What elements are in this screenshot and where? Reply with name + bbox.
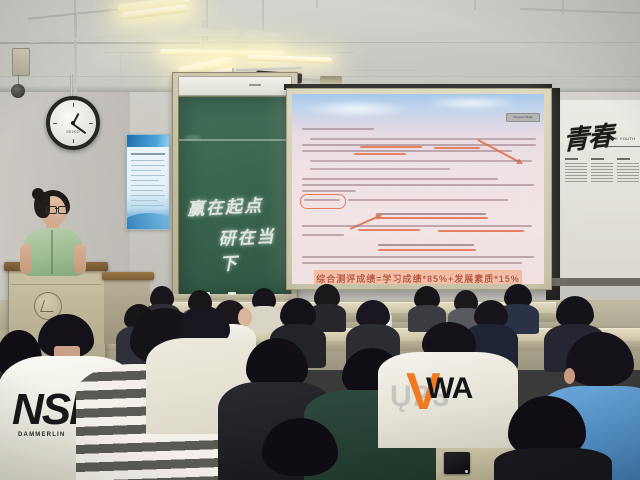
slide-highlight-banner: 综合测评成绩=学习成绩*85%+发展素质*15% [314, 270, 522, 284]
poster-subtitle: GIVE YOUTH [607, 136, 636, 141]
poster-line [131, 165, 165, 166]
poster-calligraphy: 青春 [563, 115, 613, 157]
slide-annotation-underline [376, 217, 488, 219]
ear [564, 368, 575, 384]
hair-bun [32, 188, 44, 200]
slide-text-line [302, 184, 534, 186]
ceiling-rod [474, 0, 476, 10]
hair [262, 418, 338, 476]
slide: Preview Mode 综合测评成绩=学习成绩*85%+发展素质*15% [292, 94, 544, 284]
chalk-dust [185, 135, 201, 140]
arm-left [20, 244, 32, 274]
slide-text-line [348, 199, 508, 201]
ceiling-wire [348, 70, 418, 71]
wall-poster-right: 青春 GIVE YOUTH [558, 100, 640, 278]
wall-poster-left [126, 134, 170, 230]
ceiling-rod [262, 0, 264, 30]
person-lecturer [18, 190, 92, 272]
clock-tick [73, 139, 74, 143]
classroom-photo: SEIKO 青春 GIVE YOUTH [0, 0, 640, 480]
whiteboard-strip [178, 76, 292, 96]
clock-brand-label: SEIKO [66, 129, 80, 134]
slide-annotation-underline [438, 230, 524, 232]
wall-speaker [12, 48, 30, 76]
slide-annotation-underline [378, 249, 476, 251]
person-student [412, 286, 442, 328]
slide-annotation-arrow [350, 214, 382, 229]
lamp-mount [192, 30, 238, 36]
poster-line [131, 200, 157, 201]
poster-text-column [565, 158, 587, 184]
ceiling-seam [196, 42, 640, 43]
slide-text-line [302, 262, 522, 264]
poster-text-column [591, 158, 613, 184]
slide-text-line [310, 168, 450, 170]
slide-annotation-box [300, 194, 346, 209]
poster-line [131, 160, 164, 161]
person-student [254, 418, 358, 480]
slide-text-line [302, 190, 356, 192]
poster-text-column [617, 158, 639, 184]
ceiling-rod [206, 0, 208, 44]
slide-text-line [310, 160, 532, 162]
ceiling-rod [316, 0, 318, 8]
slide-text-line [302, 256, 534, 258]
poster-line [131, 195, 165, 196]
slide-text-line [302, 128, 374, 130]
slide-cloud [422, 96, 522, 110]
chalk-text-line1: 赢在起点 [186, 191, 263, 220]
poster-header [127, 135, 169, 147]
clock-tick [73, 103, 74, 107]
clock-tick [89, 123, 93, 124]
slide-cloud [302, 100, 412, 118]
poster-title-line [131, 153, 165, 155]
poster-line [131, 190, 163, 191]
smartphone-on-desk[interactable] [444, 452, 470, 474]
slide-text-line [304, 199, 340, 201]
wall-clock: SEIKO [46, 96, 100, 150]
glasses-right-lens [58, 206, 68, 214]
poster-line [131, 170, 161, 171]
ceiling-wire [122, 72, 123, 94]
ceiling-rod [562, 0, 564, 14]
student-top-dark [494, 448, 612, 480]
phone-button-icon [465, 470, 468, 473]
slide-annotation-underline [354, 153, 406, 155]
poster-line [131, 175, 165, 176]
jacket-graphic-text: WA [426, 374, 472, 404]
person-student-wa: Ų23 V WA [382, 330, 514, 450]
slide-text-line [310, 138, 536, 140]
slide-text-line [302, 225, 532, 227]
lamp-mount [246, 32, 280, 37]
whiteboard-mark [249, 84, 261, 86]
poster-line [131, 205, 164, 206]
slide-annotation-underline [358, 229, 420, 231]
person-student [498, 396, 608, 480]
ceiling-wire [120, 52, 121, 86]
clock-tick [53, 123, 57, 124]
slide-mode-button[interactable]: Preview Mode [506, 113, 540, 122]
ceiling-rod [74, 14, 77, 98]
shirt-placket [51, 230, 53, 274]
clock-pivot [71, 121, 75, 125]
wall-trim [546, 278, 640, 286]
slide-formula-line [376, 213, 486, 215]
speaker-cone-icon [11, 84, 25, 98]
poster-decor [126, 213, 170, 230]
clock-stem [70, 74, 73, 96]
podium-shelf-line [10, 284, 102, 285]
arm-right [74, 244, 86, 274]
poster-rule [603, 146, 640, 147]
hair [566, 332, 634, 386]
poster-line [131, 180, 159, 181]
poster-line [131, 185, 165, 186]
slide-text-line [302, 234, 344, 236]
side-table-top [102, 272, 154, 280]
slide-annotation-underline [360, 146, 422, 148]
slide-annotation-underline [434, 147, 480, 149]
blackboard: 赢在起点 研在当下 [178, 96, 292, 298]
slide-text-line [302, 178, 498, 180]
chalk-piece [228, 292, 236, 295]
slide-formula-line [378, 244, 474, 246]
tee-graphic-subtext: DAMMERLIN [18, 432, 65, 438]
glasses-bridge [55, 208, 58, 209]
slide-text-line [302, 150, 512, 152]
chalk-text-line2: 研在当下 [218, 221, 293, 275]
